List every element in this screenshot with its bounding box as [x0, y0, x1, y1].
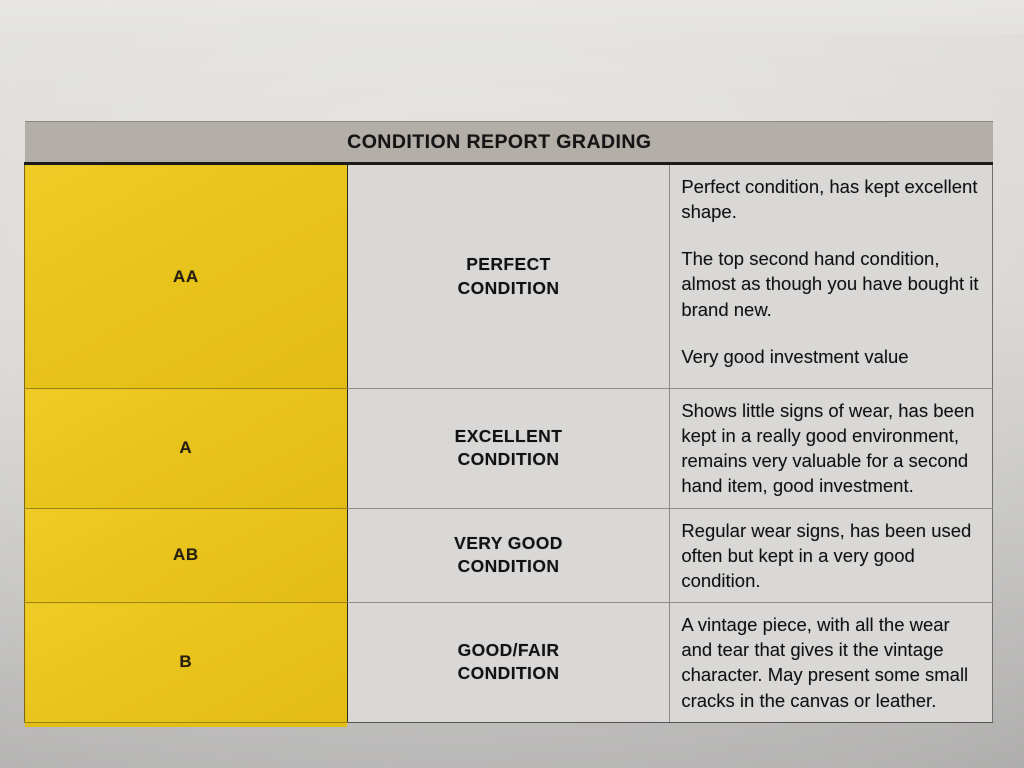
condition-label-line2: CONDITION — [458, 449, 560, 469]
description-b: A vintage piece, with all the wear and t… — [670, 603, 993, 723]
condition-label-ab: VERY GOOD CONDITION — [347, 508, 670, 602]
photo-surface: CONDITION REPORT GRADING AA PERFECT COND… — [0, 0, 1024, 768]
condition-label-line1: EXCELLENT — [455, 426, 563, 446]
table-row: AA PERFECT CONDITION Perfect condition, … — [25, 164, 993, 389]
grade-code-aa: AA — [25, 164, 348, 389]
condition-label-aa: PERFECT CONDITION — [347, 164, 670, 389]
condition-label-line1: GOOD/FAIR — [458, 640, 560, 660]
paper-edge — [0, 0, 1024, 34]
description-paragraph: Shows little signs of wear, has been kep… — [681, 398, 982, 499]
description-paragraph: Regular wear signs, has been used often … — [681, 518, 982, 593]
condition-report-grading-table: CONDITION REPORT GRADING AA PERFECT COND… — [24, 121, 993, 723]
description-paragraph: Perfect condition, has kept excellent sh… — [681, 174, 982, 224]
grade-code-b: B — [25, 603, 348, 723]
condition-label-line2: CONDITION — [458, 278, 560, 298]
table-row: B GOOD/FAIR CONDITION A vintage piece, w… — [25, 603, 993, 723]
description-aa: Perfect condition, has kept excellent sh… — [670, 164, 993, 389]
description-paragraph: A vintage piece, with all the wear and t… — [681, 612, 982, 713]
description-paragraph: Very good investment value — [681, 344, 982, 369]
condition-label-line2: CONDITION — [458, 663, 560, 683]
description-paragraph: The top second hand condition, almost as… — [681, 246, 982, 321]
description-ab: Regular wear signs, has been used often … — [670, 508, 993, 602]
condition-label-b: GOOD/FAIR CONDITION — [347, 603, 670, 723]
table-header-row: CONDITION REPORT GRADING — [25, 122, 993, 164]
grade-code-ab: AB — [25, 508, 348, 602]
header-blank-cell — [25, 122, 348, 164]
condition-label-a: EXCELLENT CONDITION — [347, 389, 670, 509]
condition-label-line1: PERFECT — [466, 254, 550, 274]
page-title: CONDITION REPORT GRADING — [347, 122, 992, 164]
table-row: A EXCELLENT CONDITION Shows little signs… — [25, 389, 993, 509]
description-a: Shows little signs of wear, has been kep… — [670, 389, 993, 509]
condition-label-line2: CONDITION — [458, 556, 560, 576]
table-row: AB VERY GOOD CONDITION Regular wear sign… — [25, 508, 993, 602]
condition-label-line1: VERY GOOD — [454, 533, 563, 553]
grade-code-a: A — [25, 389, 348, 509]
